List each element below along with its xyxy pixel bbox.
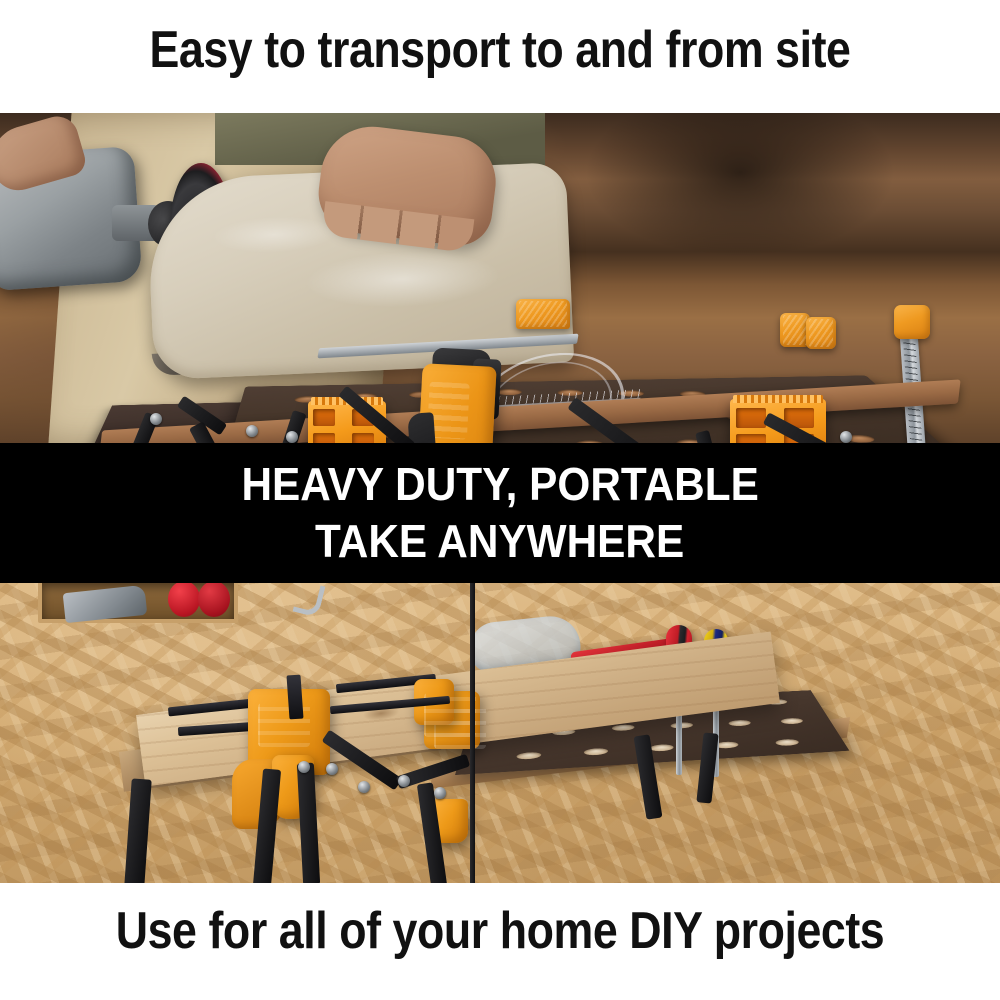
bench-bolt-3: [286, 431, 298, 443]
niche-tools: [63, 585, 148, 623]
bench-bolt-1: [150, 413, 162, 425]
top-caption: Easy to transport to and from site: [70, 22, 930, 78]
clamp-jaw-left-black: [286, 675, 303, 720]
photo-bottom-diy: [0, 583, 1000, 883]
bench2-bolt-1: [298, 761, 310, 773]
bench-bolt-2: [246, 425, 258, 437]
bench-dog-1: [516, 299, 570, 329]
bench-dog-4: [894, 305, 930, 339]
product-feature-image: Easy to transport to and from site: [0, 0, 1000, 1000]
bench2-bolt-2: [326, 763, 338, 775]
bench2-bolt-3: [358, 781, 370, 793]
bench-bolt-6: [840, 431, 852, 443]
ear-defenders-icon: [168, 583, 232, 617]
headline-line-2: TAKE ANYWHERE: [315, 513, 684, 570]
bench-dog-3: [806, 317, 836, 349]
headline-banner: HEAVY DUTY, PORTABLE TAKE ANYWHERE: [0, 443, 1000, 583]
bench2-bolt-5: [434, 787, 446, 799]
vertical-rod: [470, 583, 475, 883]
headline-line-1: HEAVY DUTY, PORTABLE: [241, 456, 758, 513]
photo-top-transport: [0, 113, 1000, 443]
bottom-caption: Use for all of your home DIY projects: [70, 903, 930, 959]
bench2-bolt-4: [398, 775, 410, 787]
wall-niche-shelf: [38, 583, 238, 623]
